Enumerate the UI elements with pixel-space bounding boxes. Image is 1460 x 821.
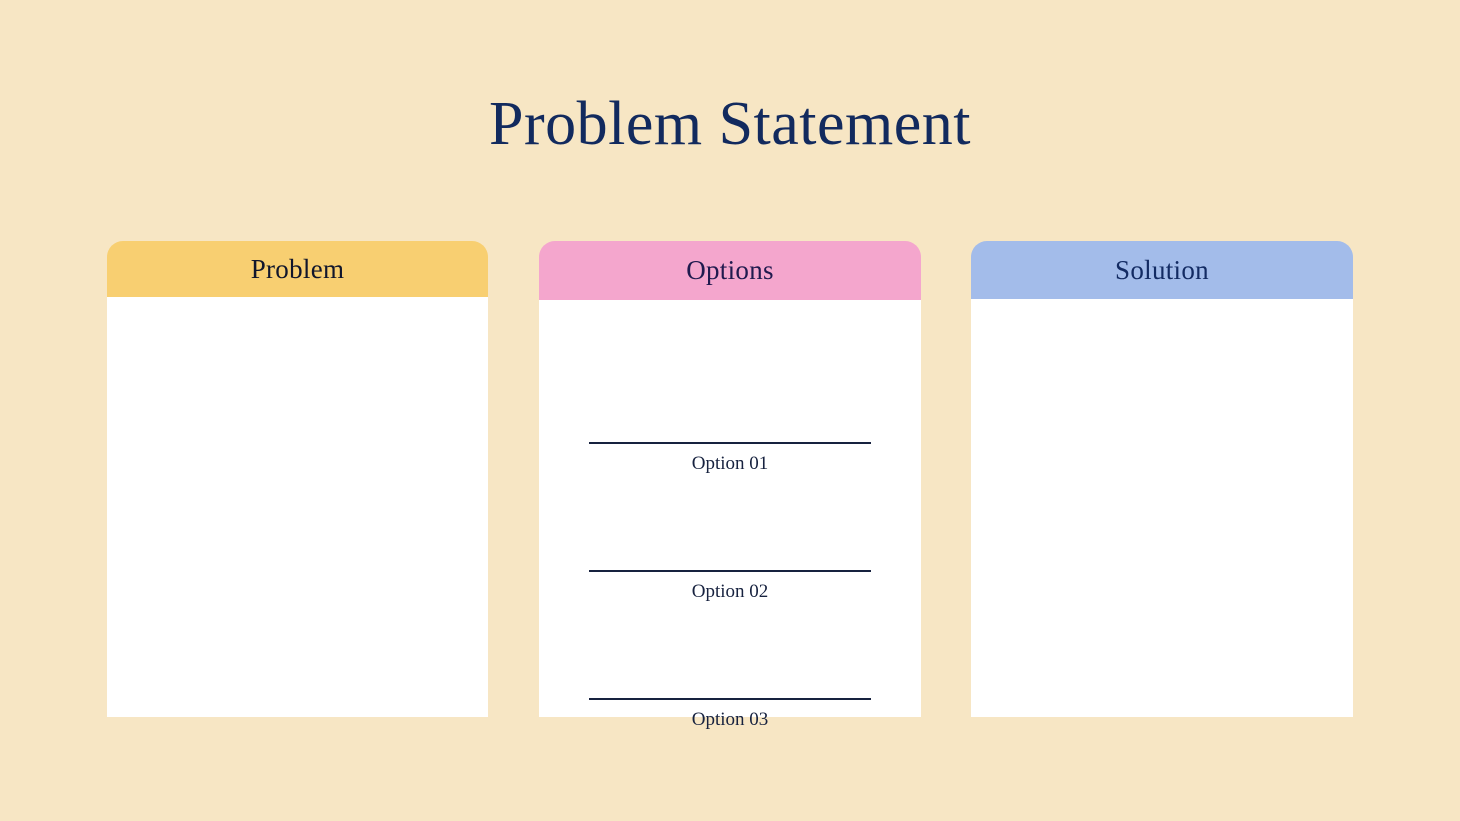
card-solution-body[interactable] bbox=[971, 299, 1353, 717]
page-title: Problem Statement bbox=[0, 84, 1460, 164]
card-solution[interactable]: Solution bbox=[971, 241, 1353, 717]
card-options[interactable]: Options Option 01 Option 02 Option 03 bbox=[539, 241, 921, 717]
slide-canvas: Problem Statement Problem Options Option… bbox=[0, 0, 1460, 821]
option-label: Option 01 bbox=[589, 444, 871, 476]
option-label: Option 03 bbox=[589, 700, 871, 732]
option-row[interactable]: Option 01 bbox=[589, 442, 871, 476]
card-problem-header[interactable]: Problem bbox=[107, 241, 488, 297]
card-solution-header[interactable]: Solution bbox=[971, 241, 1353, 299]
option-row[interactable]: Option 02 bbox=[589, 570, 871, 604]
card-options-header[interactable]: Options bbox=[539, 241, 921, 300]
card-options-body[interactable]: Option 01 Option 02 Option 03 bbox=[539, 300, 921, 717]
option-row[interactable]: Option 03 bbox=[589, 698, 871, 732]
card-problem-body[interactable] bbox=[107, 297, 488, 717]
option-label: Option 02 bbox=[589, 572, 871, 604]
card-problem[interactable]: Problem bbox=[107, 241, 488, 717]
